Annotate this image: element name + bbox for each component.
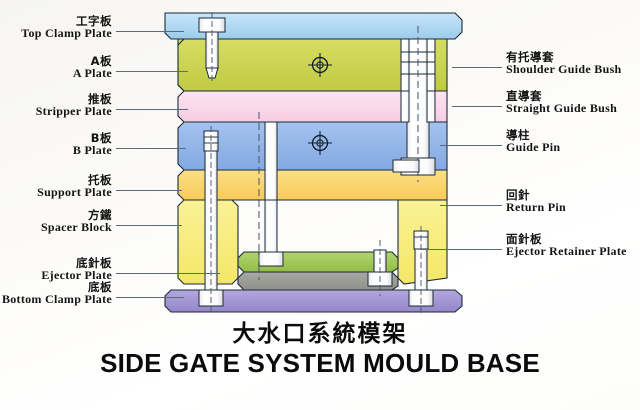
leader-b-plate (116, 148, 186, 149)
shoulder-guide-bush-body-r (427, 39, 435, 91)
label-stripper-plate: 推板 Stripper Plate (36, 93, 112, 118)
support-top-bolt-head (393, 160, 419, 172)
label-support-plate: 托板 Support Plate (37, 174, 112, 199)
label-a-plate-en: A Plate (73, 67, 112, 80)
label-b-plate: B板 B Plate (73, 132, 112, 157)
straight-guide-bush-body-r (427, 91, 435, 122)
label-bottom-clamp-plate-en: Bottom Clamp Plate (2, 293, 112, 306)
straight-guide-bush-body (401, 91, 409, 122)
label-spacer-block-en: Spacer Block (41, 221, 112, 234)
leader-stripper-plate (116, 109, 188, 110)
label-spacer-block: 方鐵 Spacer Block (41, 209, 112, 234)
label-straight-guide-bush-en: Straight Guide Bush (506, 102, 617, 115)
label-straight-guide-bush: 直導套 Straight Guide Bush (506, 90, 617, 115)
leader-ejector-plate (116, 273, 220, 274)
diagram-title-cn: 大水口系統模架 (0, 314, 640, 348)
leader-ejector-retainer-plate (420, 249, 502, 250)
ejector-pin-shaft (265, 122, 277, 252)
label-support-plate-en: Support Plate (37, 186, 112, 199)
leader-shoulder-guide-bush (452, 67, 502, 68)
leader-bottom-clamp-plate (116, 297, 184, 298)
leader-return-pin (440, 205, 502, 206)
label-top-clamp-plate: 工字板 Top Clamp Plate (21, 15, 112, 40)
label-shoulder-guide-bush: 有托導套 Shoulder Guide Bush (506, 51, 622, 76)
diagram-canvas: 工字板 Top Clamp Plate A板 A Plate 推板 Stripp… (0, 0, 640, 410)
leader-guide-pin (440, 145, 502, 146)
leader-top-clamp-plate (116, 31, 184, 32)
label-stripper-plate-en: Stripper Plate (36, 105, 112, 118)
label-b-plate-en: B Plate (73, 144, 112, 157)
diagram-title-en: SIDE GATE SYSTEM MOULD BASE (0, 348, 640, 379)
leader-support-plate (116, 190, 182, 191)
label-bottom-clamp-plate: 底板 Bottom Clamp Plate (2, 281, 112, 306)
ejector-pin-head (259, 252, 283, 266)
label-guide-pin-en: Guide Pin (506, 141, 560, 154)
label-ejector-plate: 底針板 Ejector Plate (41, 257, 112, 282)
label-guide-pin: 導柱 Guide Pin (506, 129, 560, 154)
shoulder-guide-bush-body (401, 39, 409, 91)
label-shoulder-guide-bush-en: Shoulder Guide Bush (506, 63, 622, 76)
label-ejector-retainer-plate-en: Ejector Retainer Plate (506, 245, 627, 258)
leader-spacer-block (116, 225, 182, 226)
label-a-plate: A板 A Plate (73, 55, 112, 80)
label-return-pin: 回針 Return Pin (506, 189, 566, 214)
leader-a-plate (116, 71, 188, 72)
leader-straight-guide-bush (452, 106, 502, 107)
label-top-clamp-plate-en: Top Clamp Plate (21, 27, 112, 40)
label-return-pin-en: Return Pin (506, 201, 566, 214)
label-ejector-retainer-plate: 面針板 Ejector Retainer Plate (506, 233, 627, 258)
